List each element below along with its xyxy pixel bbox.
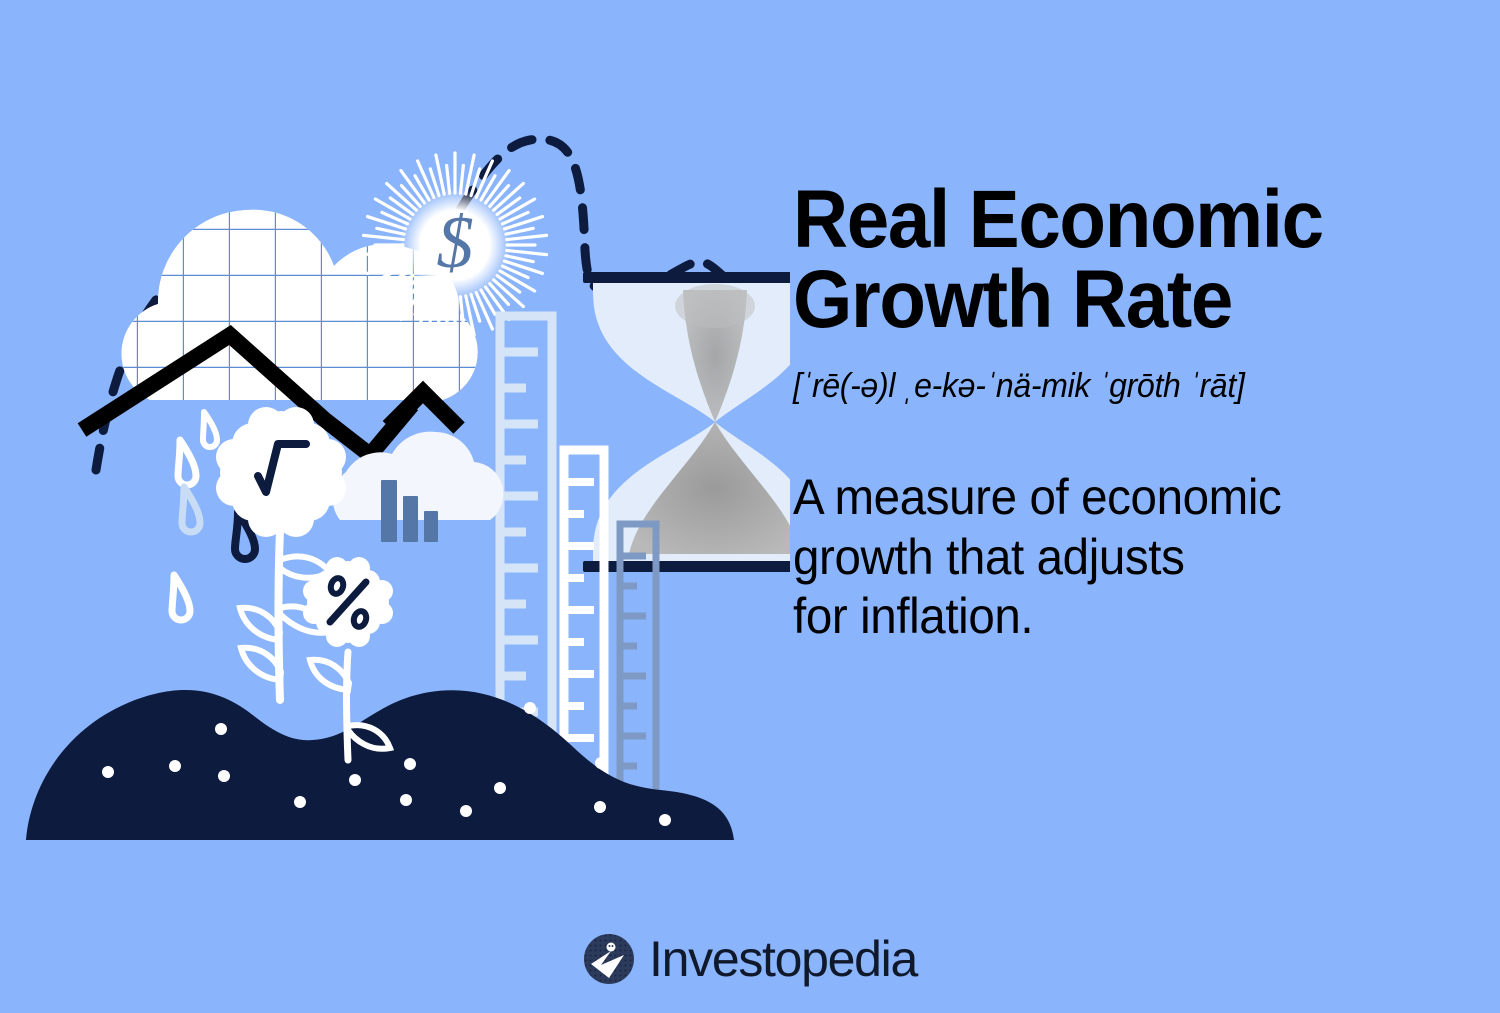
raindrop-icon (182, 487, 200, 532)
flower-stem (347, 652, 349, 760)
hourglass (583, 272, 790, 572)
hourglass-top-bar (583, 272, 790, 283)
definition-text: A measure of economic growth that adjust… (793, 468, 1401, 647)
term-text-column: Real Economic Growth Rate [ˈrē(-ə)l ˌe-k… (793, 180, 1433, 647)
dollar-symbol: $ (437, 202, 474, 284)
percent-flower (303, 557, 393, 760)
brand-footer: Investopedia (0, 933, 1500, 985)
brand-wordmark: Investopedia (649, 934, 917, 984)
flower-leaf (240, 608, 280, 640)
illustration-panel: $ (0, 0, 790, 900)
infographic-poster: $ (0, 0, 1500, 1013)
raindrop-icon (203, 412, 217, 447)
raindrop-icon (178, 440, 196, 485)
page-title: Real Economic Growth Rate (793, 180, 1388, 339)
pronunciation-text: [ˈrē(-ə)l ˌe-kə-ˈnä-mik ˈgrōth ˈrāt] (793, 367, 1395, 406)
hourglass-bottom-bar (583, 561, 790, 572)
raindrop-icon (172, 575, 190, 620)
investopedia-logo-icon (583, 933, 635, 985)
